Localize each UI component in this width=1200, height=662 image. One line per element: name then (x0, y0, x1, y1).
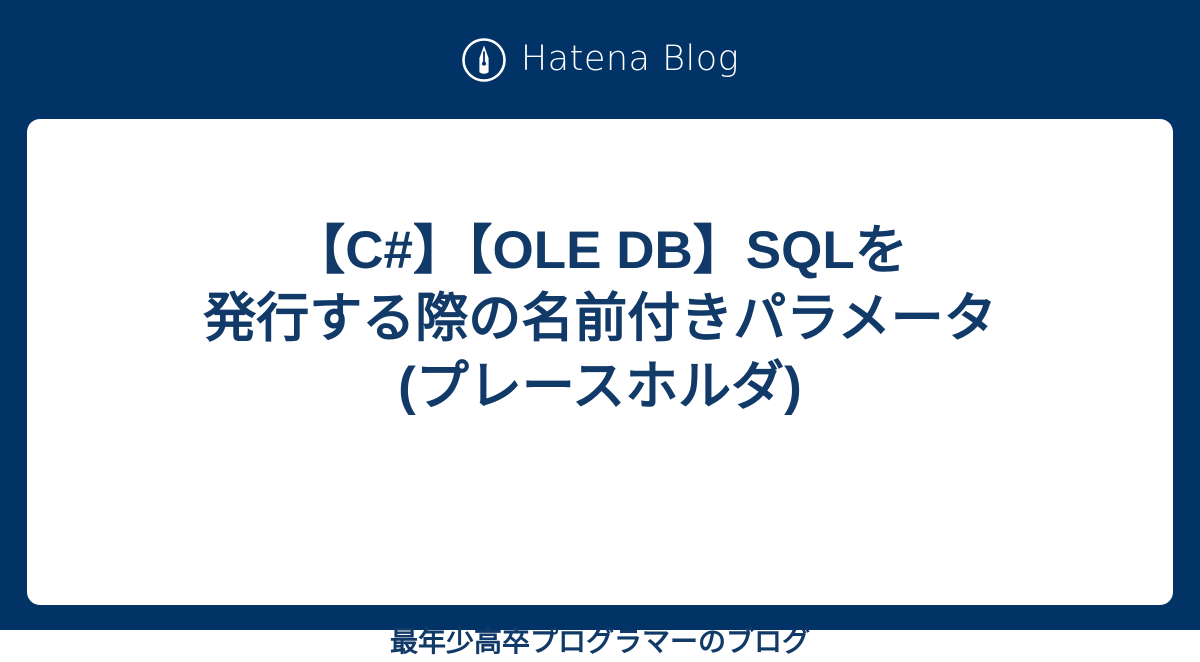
hatena-pen-nib-icon (461, 37, 507, 83)
entry-title-line-1: 【C#】【OLE DB】SQLを (100, 217, 1100, 285)
hatena-blog-wordmark: Hatena Blog (521, 42, 739, 77)
entry-card: 【C#】【OLE DB】SQLを 発行する際の名前付きパラメータ (プレースホル… (27, 119, 1173, 605)
og-card-root: Hatena Blog 【C#】【OLE DB】SQLを 発行する際の名前付きパ… (0, 0, 1200, 630)
entry-title-line-3: (プレースホルダ) (100, 353, 1100, 421)
blog-title: 最年少高卒プログラマーのブログ (27, 622, 1173, 662)
entry-title-line-2: 発行する際の名前付きパラメータ (100, 285, 1100, 353)
entry-title: 【C#】【OLE DB】SQLを 発行する際の名前付きパラメータ (プレースホル… (100, 217, 1100, 421)
hatena-blog-brand: Hatena Blog (0, 0, 1200, 119)
